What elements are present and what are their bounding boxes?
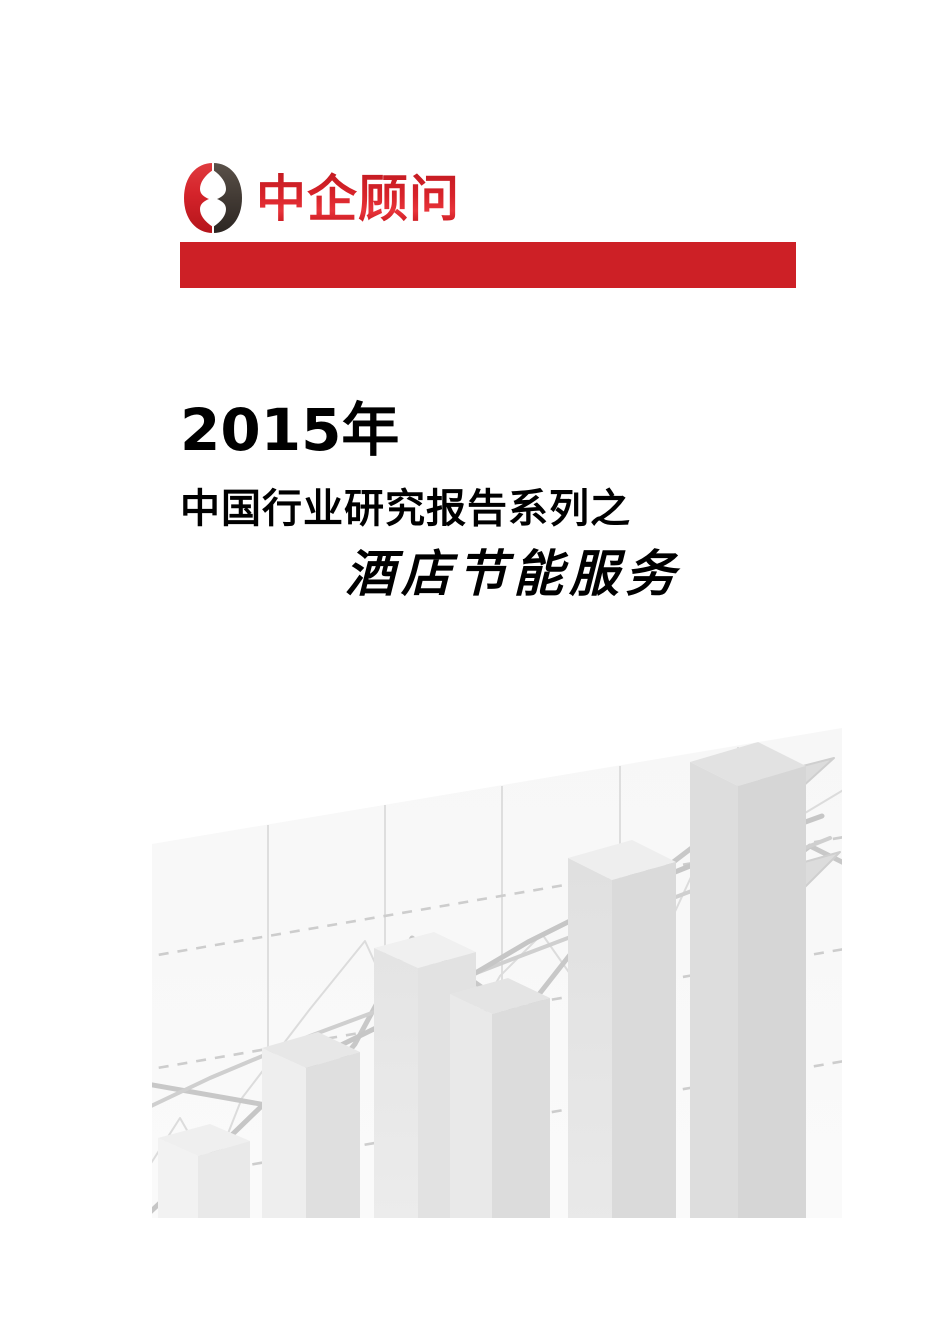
title-block: 2015年 中国行业研究报告系列之 酒店节能服务 bbox=[180, 400, 800, 602]
masthead: 中企顾问 bbox=[180, 158, 796, 290]
business-growth-chart-illustration bbox=[150, 726, 844, 1222]
bar-4 bbox=[450, 978, 550, 1222]
brand-logo: 中企顾问 bbox=[180, 158, 460, 238]
brand-wordmark: 中企顾问 bbox=[256, 172, 460, 224]
bar-5 bbox=[568, 840, 676, 1222]
report-year: 2015年 bbox=[180, 400, 800, 461]
bar-1 bbox=[158, 1124, 250, 1222]
report-series-line: 中国行业研究报告系列之 bbox=[180, 487, 800, 531]
zhongqi-guwen-logo-icon bbox=[180, 161, 246, 235]
bar-2 bbox=[262, 1032, 360, 1222]
report-subject-title: 酒店节能服务 bbox=[180, 545, 800, 603]
masthead-divider-bar bbox=[180, 242, 796, 288]
bar-6 bbox=[690, 742, 806, 1222]
cover-page: 中企顾问 2015年 中国行业研究报告系列之 酒店节能服务 bbox=[0, 0, 950, 1344]
